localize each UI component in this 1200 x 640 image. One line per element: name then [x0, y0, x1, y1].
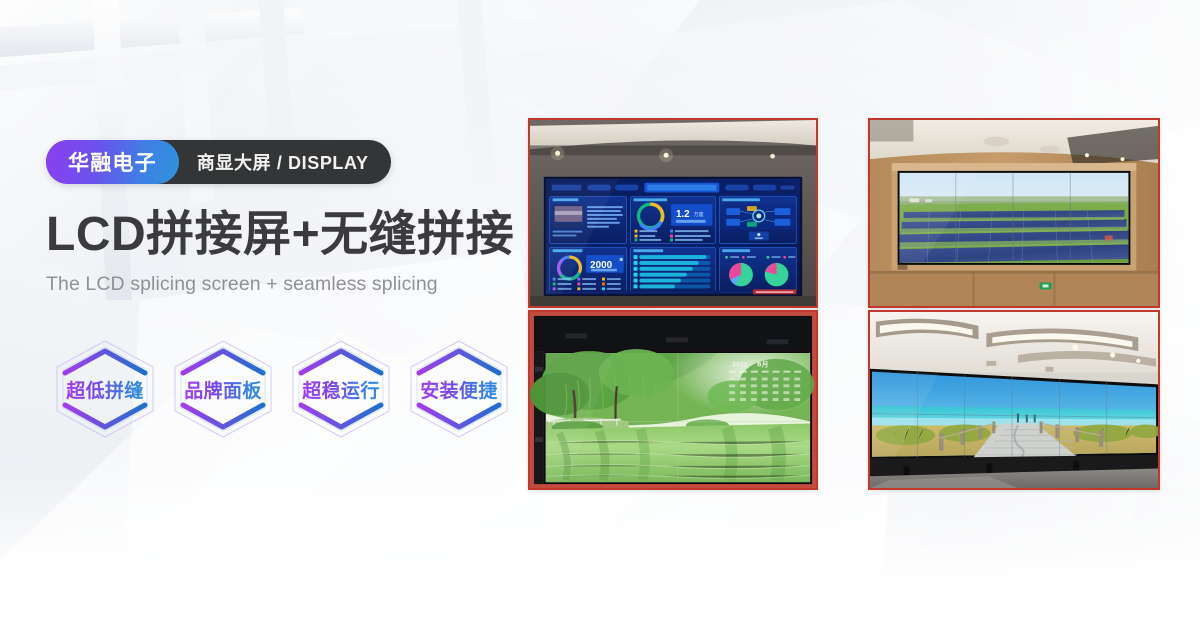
gallery-photo-dashboard-video-wall[interactable]: 1.2 万座	[528, 118, 818, 308]
svg-text:万座: 万座	[694, 211, 704, 218]
product-photo-gallery: 1.2 万座	[528, 118, 1160, 490]
feature-hexagon-row: 超低拼缝 品牌面板 超稳运行	[46, 333, 518, 445]
feature-label: 安装便捷	[420, 376, 498, 403]
feature-label: 超低拼缝	[66, 376, 144, 403]
brand-tagline: 商显大屏 / DISPLAY	[197, 149, 369, 175]
banner-text-column: 华融电子 商显大屏 / DISPLAY LCD拼接屏+无缝拼接 The LCD …	[46, 140, 516, 296]
solar-farm-scene	[870, 120, 1158, 306]
feature-hexagon-1: 超低拼缝	[46, 333, 164, 445]
dashboard-scene: 1.2 万座	[530, 120, 816, 306]
svg-text:6月: 6月	[757, 361, 769, 369]
feature-hexagon-3: 超稳运行	[282, 333, 400, 445]
brand-name: 华融电子	[46, 140, 179, 184]
page-title: LCD拼接屏+无缝拼接	[46, 210, 516, 260]
svg-text:2021: 2021	[732, 362, 748, 369]
gallery-photo-willow-pond-video-wall[interactable]: 2021 6月	[528, 310, 818, 490]
brand-badge: 华融电子 商显大屏 / DISPLAY	[46, 140, 391, 184]
feature-label: 品牌面板	[184, 376, 262, 403]
feature-hexagon-2: 品牌面板	[164, 333, 282, 445]
svg-text:1.2: 1.2	[676, 209, 690, 220]
page-subtitle: The LCD splicing screen + seamless splic…	[46, 273, 516, 296]
gallery-photo-beach-boardwalk-video-wall[interactable]	[868, 310, 1160, 490]
feature-label: 超稳运行	[302, 376, 380, 403]
gallery-photo-solar-farm-video-wall[interactable]	[868, 118, 1160, 308]
beach-boardwalk-scene	[870, 312, 1158, 488]
willow-pond-scene: 2021 6月	[530, 312, 816, 488]
feature-hexagon-4: 安装便捷	[400, 333, 518, 445]
